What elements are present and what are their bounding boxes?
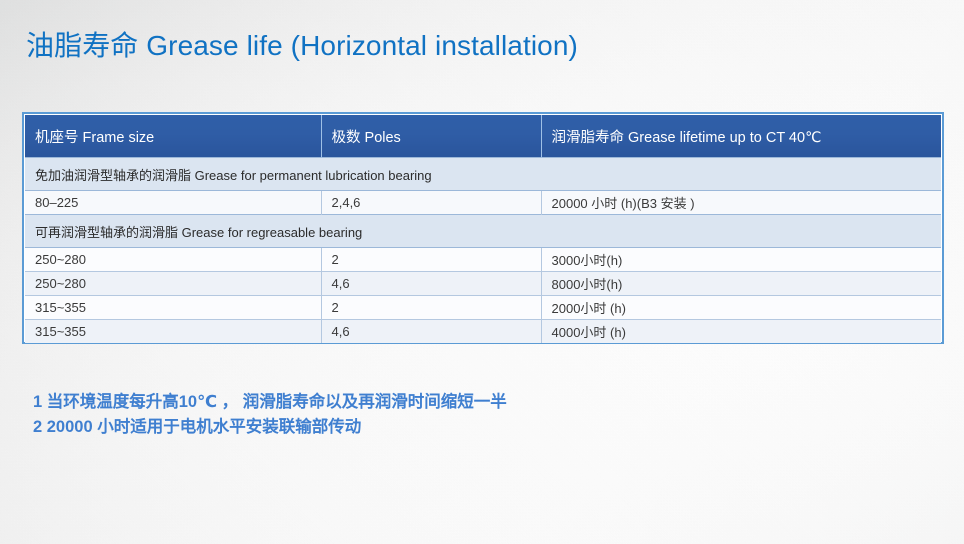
- section-band-regreasable: 可再润滑型轴承的润滑脂 Grease for regreasable beari…: [25, 215, 941, 248]
- footnote-1: 1 当环境温度每升高10℃ ， 润滑脂寿命以及再润滑时间缩短一半: [33, 390, 507, 415]
- section-band-permanent-lubrication: 免加油润滑型轴承的润滑脂 Grease for permanent lubric…: [25, 158, 941, 191]
- slide-canvas: 油脂寿命 Grease life (Horizontal installatio…: [0, 0, 964, 544]
- grease-life-table-frame: 机座号 Frame size 极数 Poles 润滑脂寿命 Grease lif…: [22, 112, 944, 344]
- cell-frame-size: 250~280: [25, 272, 321, 296]
- cell-lifetime: 2000小时 (h): [541, 296, 941, 320]
- cell-poles: 2: [321, 248, 541, 272]
- grease-life-table: 机座号 Frame size 极数 Poles 润滑脂寿命 Grease lif…: [25, 115, 941, 343]
- column-header-grease-lifetime: 润滑脂寿命 Grease lifetime up to CT 40℃: [541, 115, 941, 158]
- section-band-label: 免加油润滑型轴承的润滑脂 Grease for permanent lubric…: [25, 158, 941, 191]
- table-header-row: 机座号 Frame size 极数 Poles 润滑脂寿命 Grease lif…: [25, 115, 941, 158]
- cell-poles: 2,4,6: [321, 191, 541, 215]
- cell-poles: 2: [321, 296, 541, 320]
- table-row: 250~280 2 3000小时(h): [25, 248, 941, 272]
- cell-poles: 4,6: [321, 320, 541, 344]
- footnote-2: 2 20000 小时适用于电机水平安装联输部传动: [33, 415, 507, 440]
- column-header-poles: 极数 Poles: [321, 115, 541, 158]
- table-row: 315~355 4,6 4000小时 (h): [25, 320, 941, 344]
- footnotes: 1 当环境温度每升高10℃ ， 润滑脂寿命以及再润滑时间缩短一半 2 20000…: [33, 390, 507, 440]
- cell-lifetime: 8000小时(h): [541, 272, 941, 296]
- cell-lifetime: 3000小时(h): [541, 248, 941, 272]
- cell-frame-size: 315~355: [25, 320, 321, 344]
- cell-frame-size: 250~280: [25, 248, 321, 272]
- cell-poles: 4,6: [321, 272, 541, 296]
- column-header-frame-size: 机座号 Frame size: [25, 115, 321, 158]
- table-row: 80–225 2,4,6 20000 小时 (h)(B3 安装 ): [25, 191, 941, 215]
- cell-lifetime: 20000 小时 (h)(B3 安装 ): [541, 191, 941, 215]
- table-row: 315~355 2 2000小时 (h): [25, 296, 941, 320]
- cell-frame-size: 80–225: [25, 191, 321, 215]
- table-row: 250~280 4,6 8000小时(h): [25, 272, 941, 296]
- section-band-label: 可再润滑型轴承的润滑脂 Grease for regreasable beari…: [25, 215, 941, 248]
- cell-lifetime: 4000小时 (h): [541, 320, 941, 344]
- page-title: 油脂寿命 Grease life (Horizontal installatio…: [26, 28, 578, 64]
- cell-frame-size: 315~355: [25, 296, 321, 320]
